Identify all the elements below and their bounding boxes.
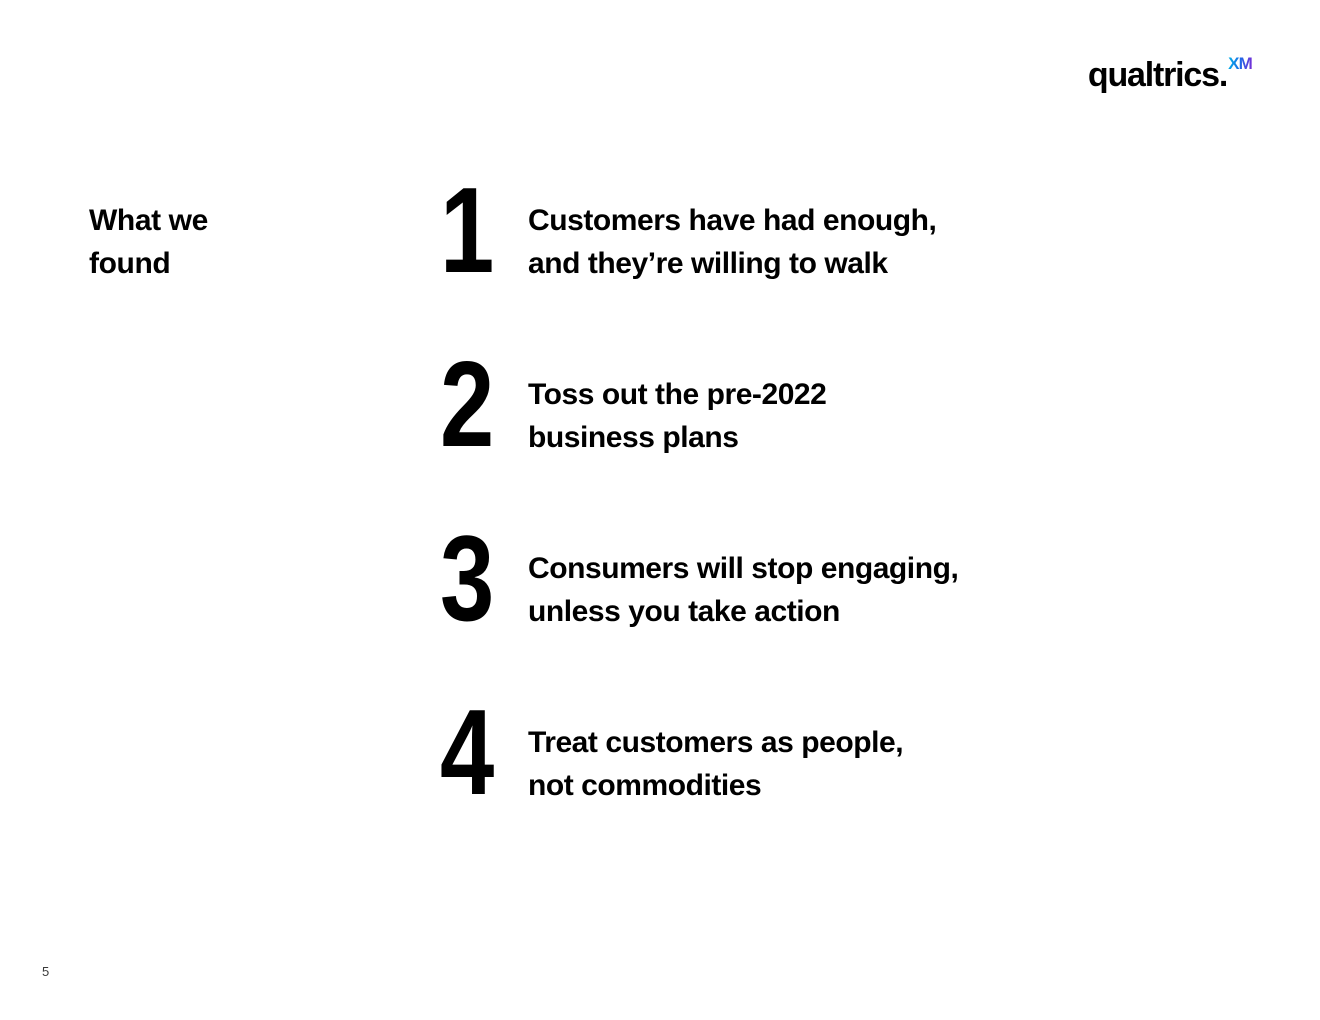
page-number: 5: [42, 965, 49, 978]
finding-text: Toss out the pre-2022 business plans: [528, 360, 1100, 459]
list-item: 4 Treat customers as people, not commodi…: [440, 708, 1100, 882]
list-item: 1 Customers have had enough, and they’re…: [440, 186, 1100, 360]
finding-text: Consumers will stop engaging, unless you…: [528, 534, 1100, 633]
xm-superscript-icon: XM: [1228, 55, 1252, 72]
finding-text: Customers have had enough, and they’re w…: [528, 186, 1100, 285]
list-item: 2 Toss out the pre-2022 business plans: [440, 360, 1100, 534]
qualtrics-wordmark: qualtrics.: [1088, 58, 1227, 92]
finding-number: 1: [440, 180, 510, 280]
findings-list: 1 Customers have had enough, and they’re…: [440, 186, 1100, 882]
list-item: 3 Consumers will stop engaging, unless y…: [440, 534, 1100, 708]
finding-number: 2: [440, 354, 510, 454]
finding-number: 3: [440, 528, 510, 628]
qualtrics-logo: qualtrics. XM: [1088, 58, 1252, 92]
finding-number: 4: [440, 702, 510, 802]
page-title: What we found: [89, 200, 389, 285]
finding-text: Treat customers as people, not commoditi…: [528, 708, 1100, 807]
slide-canvas: qualtrics. XM What we found 1 Customers …: [0, 0, 1320, 1020]
